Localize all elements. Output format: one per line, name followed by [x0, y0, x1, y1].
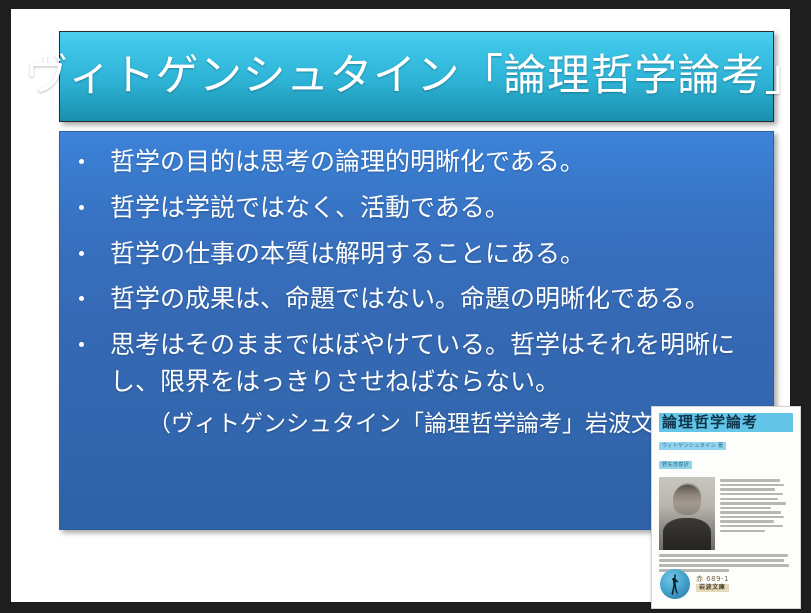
list-item-text: 哲学の仕事の本質は解明することにある。 [110, 239, 585, 268]
bullet-dot-icon [79, 342, 84, 347]
list-item-text: 哲学の目的は思考の論理的明晰化である。 [110, 147, 585, 176]
bullet-dot-icon [79, 205, 84, 210]
slide-outer-frame: ヴィトゲンシュタイン「論理哲学論考」 哲学の目的は思考の論理的明晰化である。 哲… [0, 0, 811, 613]
slide-title-text: ヴィトゲンシュタイン「論理哲学論考」 [25, 55, 808, 98]
book-cover-title: 論理哲学論考 [659, 413, 793, 432]
author-portrait-photo [659, 477, 715, 550]
book-series-number: 赤 689-1 [696, 576, 729, 583]
bullet-dot-icon [79, 159, 84, 164]
list-item-text: 思考はそのままではぼやけている。哲学はそれを明晰にし、限界をはっきりさせねばなら… [110, 330, 735, 396]
book-cover-image: 論理哲学論考 ウィトゲンシュタイン 著 野矢茂樹訳 [651, 406, 801, 609]
bullet-dot-icon [79, 251, 84, 256]
list-item: 思考はそのままではぼやけている。哲学はそれを明晰にし、限界をはっきりさせねばなら… [70, 327, 757, 401]
bullet-dot-icon [79, 296, 84, 301]
slide-title-box: ヴィトゲンシュタイン「論理哲学論考」 [59, 31, 774, 122]
list-item: 哲学は学説ではなく、活動である。 [70, 190, 757, 227]
book-series-label: 岩波文庫 [696, 584, 729, 593]
book-cover-middle [659, 477, 793, 550]
iwanami-sower-logo-icon [660, 569, 690, 599]
book-cover-series-caption: 赤 689-1 岩波文庫 [696, 576, 729, 593]
list-item: 哲学の目的は思考の論理的明晰化である。 [70, 144, 757, 181]
book-cover-translator: 野矢茂樹訳 [659, 461, 692, 469]
list-item: 哲学の成果は、命題ではない。命題の明晰化である。 [70, 281, 757, 318]
slide-page: ヴィトゲンシュタイン「論理哲学論考」 哲学の目的は思考の論理的明晰化である。 哲… [11, 9, 790, 602]
book-cover-author: ウィトゲンシュタイン 著 [659, 442, 726, 450]
book-cover-blurb [720, 477, 793, 550]
list-item-text: 哲学は学説ではなく、活動である。 [110, 193, 510, 222]
list-item-text: 哲学の成果は、命題ではない。命題の明晰化である。 [110, 284, 710, 313]
list-item: 哲学の仕事の本質は解明することにある。 [70, 236, 757, 273]
book-cover-footer: 赤 689-1 岩波文庫 [660, 569, 729, 599]
bullet-list: 哲学の目的は思考の論理的明晰化である。 哲学は学説ではなく、活動である。 哲学の… [70, 144, 757, 401]
